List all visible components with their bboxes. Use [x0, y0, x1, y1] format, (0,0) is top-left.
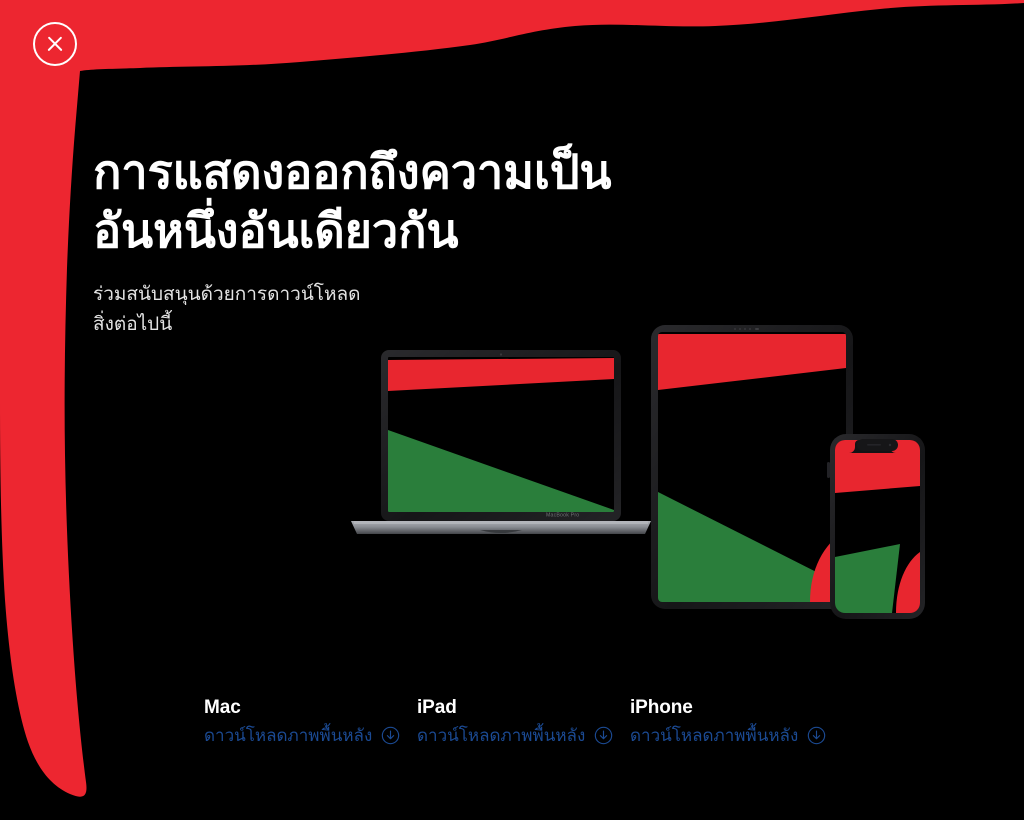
download-link-label: ดาวน์โหลดภาพพื้นหลัง [417, 726, 585, 746]
download-column-ipad: iPad ดาวน์โหลดภาพพื้นหลัง [417, 697, 630, 746]
download-circle-icon [381, 726, 400, 745]
download-device-label-ipad: iPad [417, 697, 630, 720]
iphone-mockup [827, 434, 925, 619]
download-circle-icon [807, 726, 826, 745]
download-link-label: ดาวน์โหลดภาพพื้นหลัง [630, 726, 798, 746]
page-title: การแสดงออกถึงความเป็น อันหนึ่งอันเดียวกั… [93, 142, 713, 260]
macbook-wallpaper [388, 357, 614, 512]
iphone-speaker-icon [867, 444, 881, 446]
macbook-pro-mockup: MacBook Pro [351, 350, 651, 534]
download-column-iphone: iPhone ดาวน์โหลดภาพพื้นหลัง [630, 697, 843, 746]
download-circle-icon [594, 726, 613, 745]
iphone-wallpaper [835, 440, 920, 613]
download-column-mac: Mac ดาวน์โหลดภาพพื้นหลัง [204, 697, 417, 746]
macbook-badge-label: MacBook Pro [546, 513, 579, 519]
ipad-pro-mockup [651, 325, 853, 609]
hero-copy: การแสดงออกถึงความเป็น อันหนึ่งอันเดียวกั… [93, 142, 713, 339]
macbook-base-edge [354, 521, 648, 524]
download-wallpaper-link-iphone[interactable]: ดาวน์โหลดภาพพื้นหลัง [630, 726, 826, 746]
download-links-row: Mac ดาวน์โหลดภาพพื้นหลัง iPad ดาวน์โหลดภ… [204, 697, 843, 746]
macbook-camera-icon [500, 353, 502, 355]
close-button[interactable] [33, 22, 77, 66]
iphone-camera-icon [889, 444, 891, 446]
download-device-label-iphone: iPhone [630, 697, 843, 720]
device-mockup-group: MacBook Pro [340, 312, 960, 652]
download-wallpaper-link-mac[interactable]: ดาวน์โหลดภาพพื้นหลัง [204, 726, 400, 746]
ipad-wallpaper [658, 332, 846, 602]
download-device-label-mac: Mac [204, 697, 417, 720]
download-link-label: ดาวน์โหลดภาพพื้นหลัง [204, 726, 372, 746]
iphone-side-button [827, 462, 830, 478]
page-subtitle: ร่วมสนับสนุนด้วยการดาวน์โหลด สิ่งต่อไปนี… [93, 280, 713, 339]
unity-wallpaper-modal: การแสดงออกถึงความเป็น อันหนึ่งอันเดียวกั… [0, 0, 1024, 820]
download-wallpaper-link-ipad[interactable]: ดาวน์โหลดภาพพื้นหลัง [417, 726, 613, 746]
